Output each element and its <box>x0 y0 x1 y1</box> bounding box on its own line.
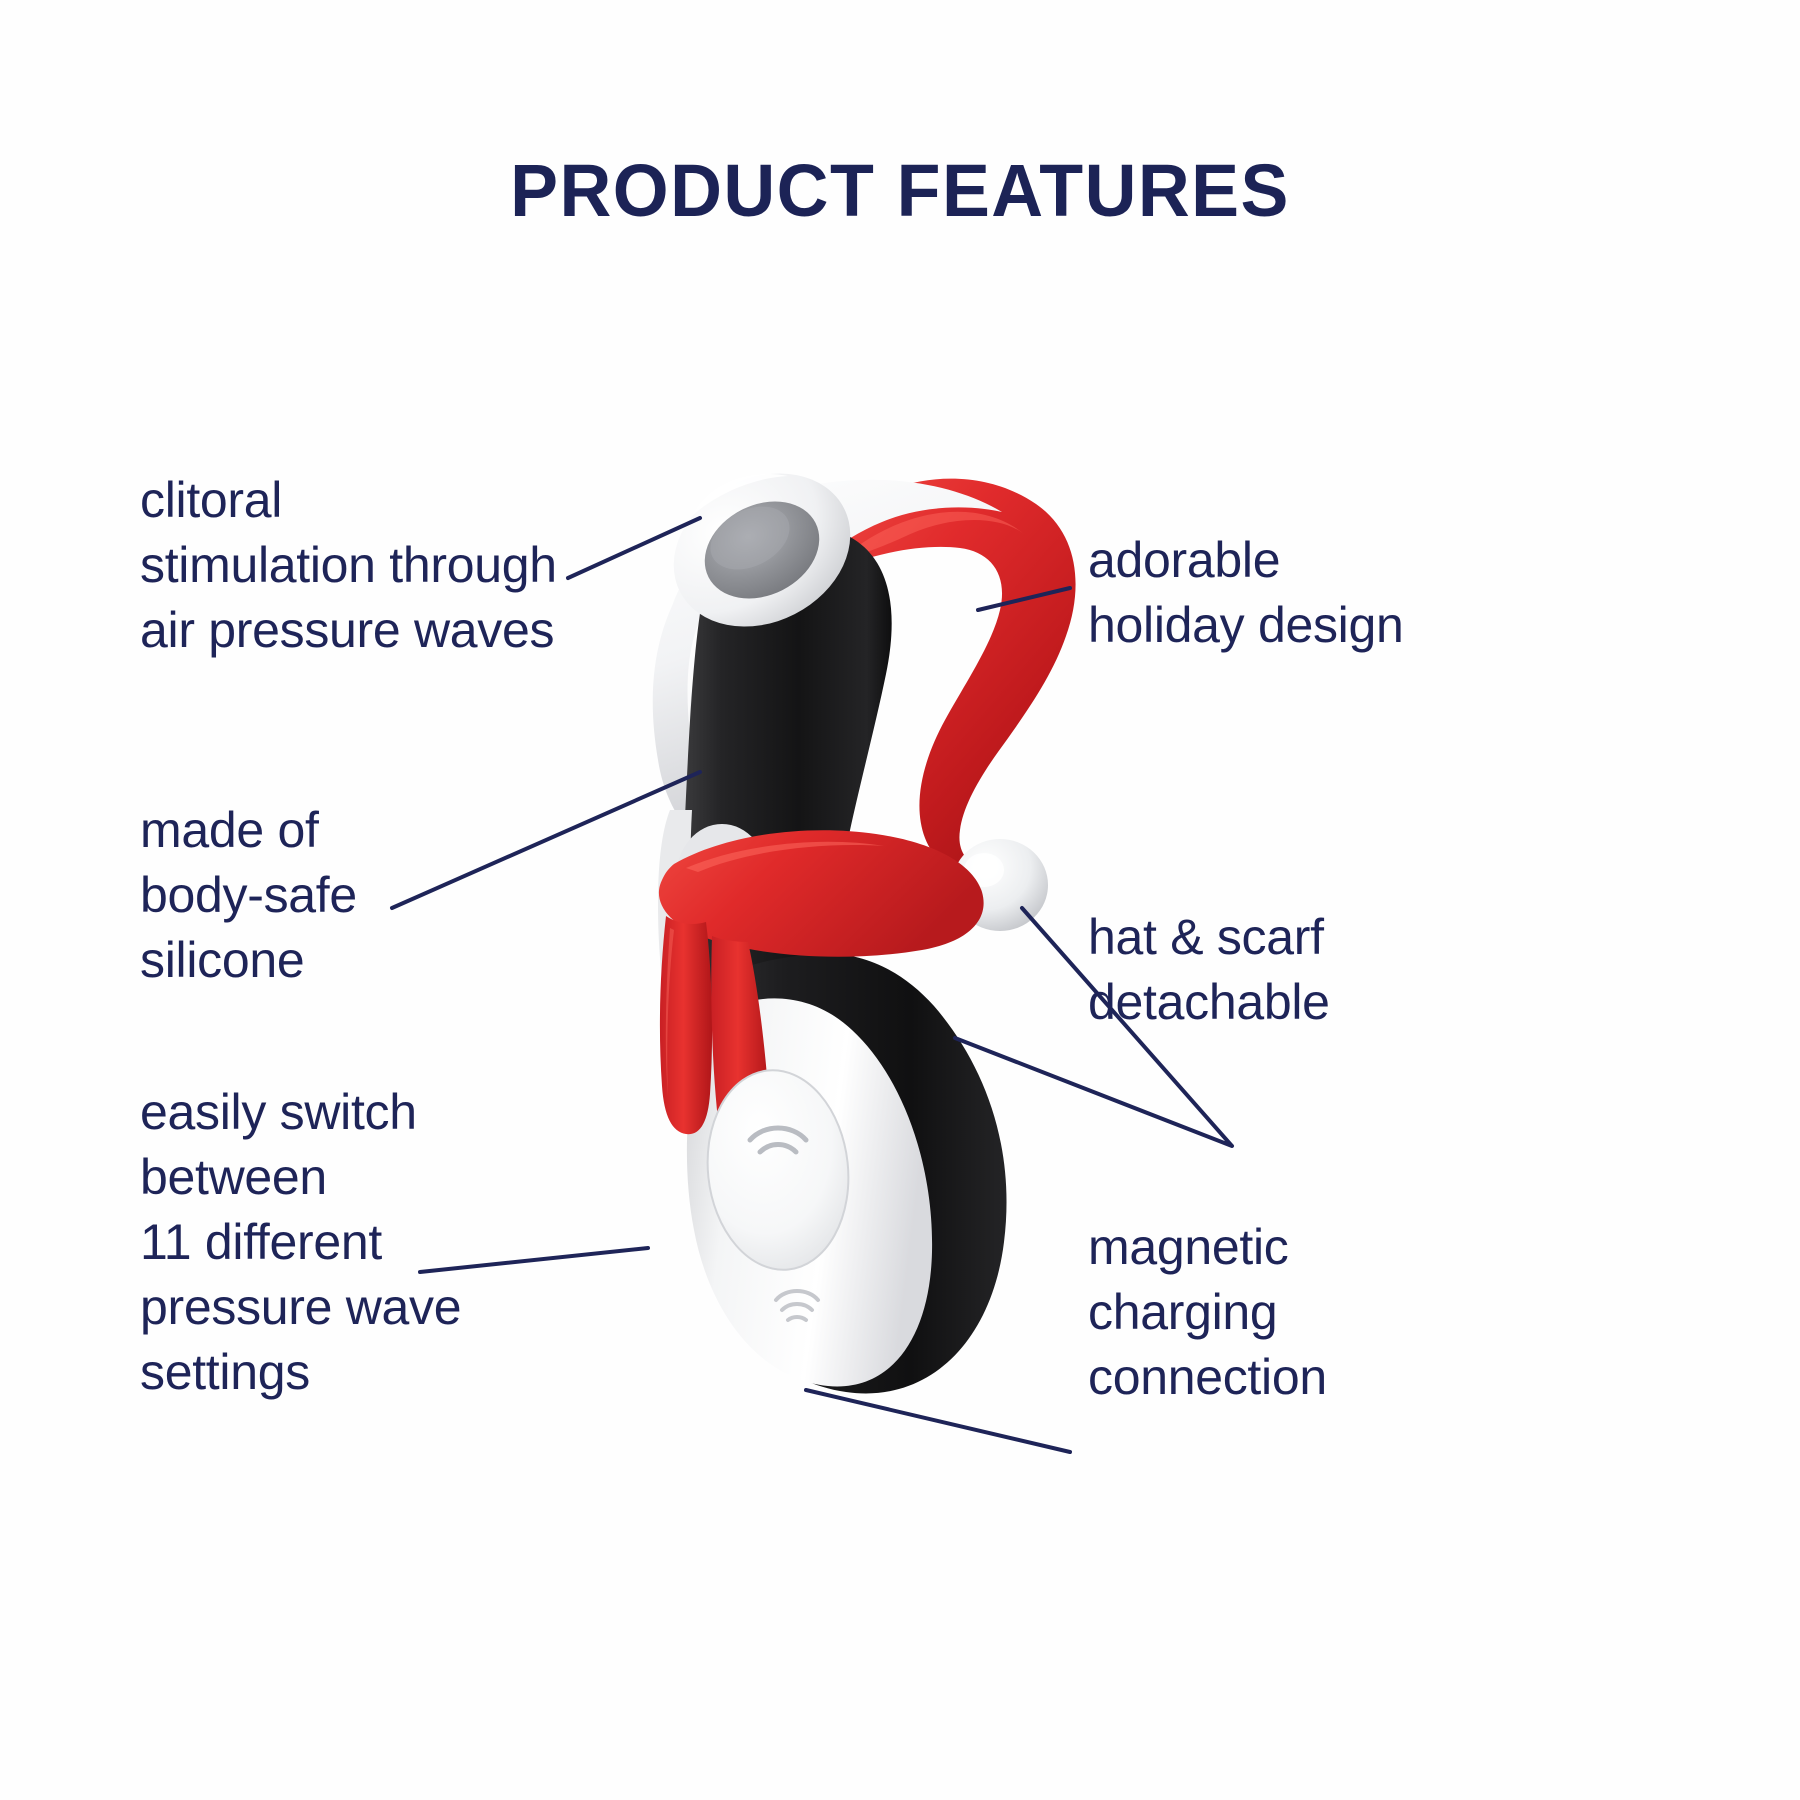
page-title: PRODUCT FEATURES <box>27 148 1773 233</box>
infographic-canvas: PRODUCT FEATURES <box>0 0 1800 1800</box>
callout-holiday-design: adorable holiday design <box>1088 528 1488 658</box>
callout-magnetic-charging: magnetic charging connection <box>1088 1215 1468 1410</box>
callout-hat-scarf-detachable: hat & scarf detachable <box>1088 905 1488 1035</box>
callout-clitoral-stimulation: clitoral stimulation through air pressur… <box>140 468 610 663</box>
callout-pressure-wave-settings: easily switch between 11 different press… <box>140 1080 520 1405</box>
callout-body-safe-silicone: made of body-safe silicone <box>140 798 470 993</box>
